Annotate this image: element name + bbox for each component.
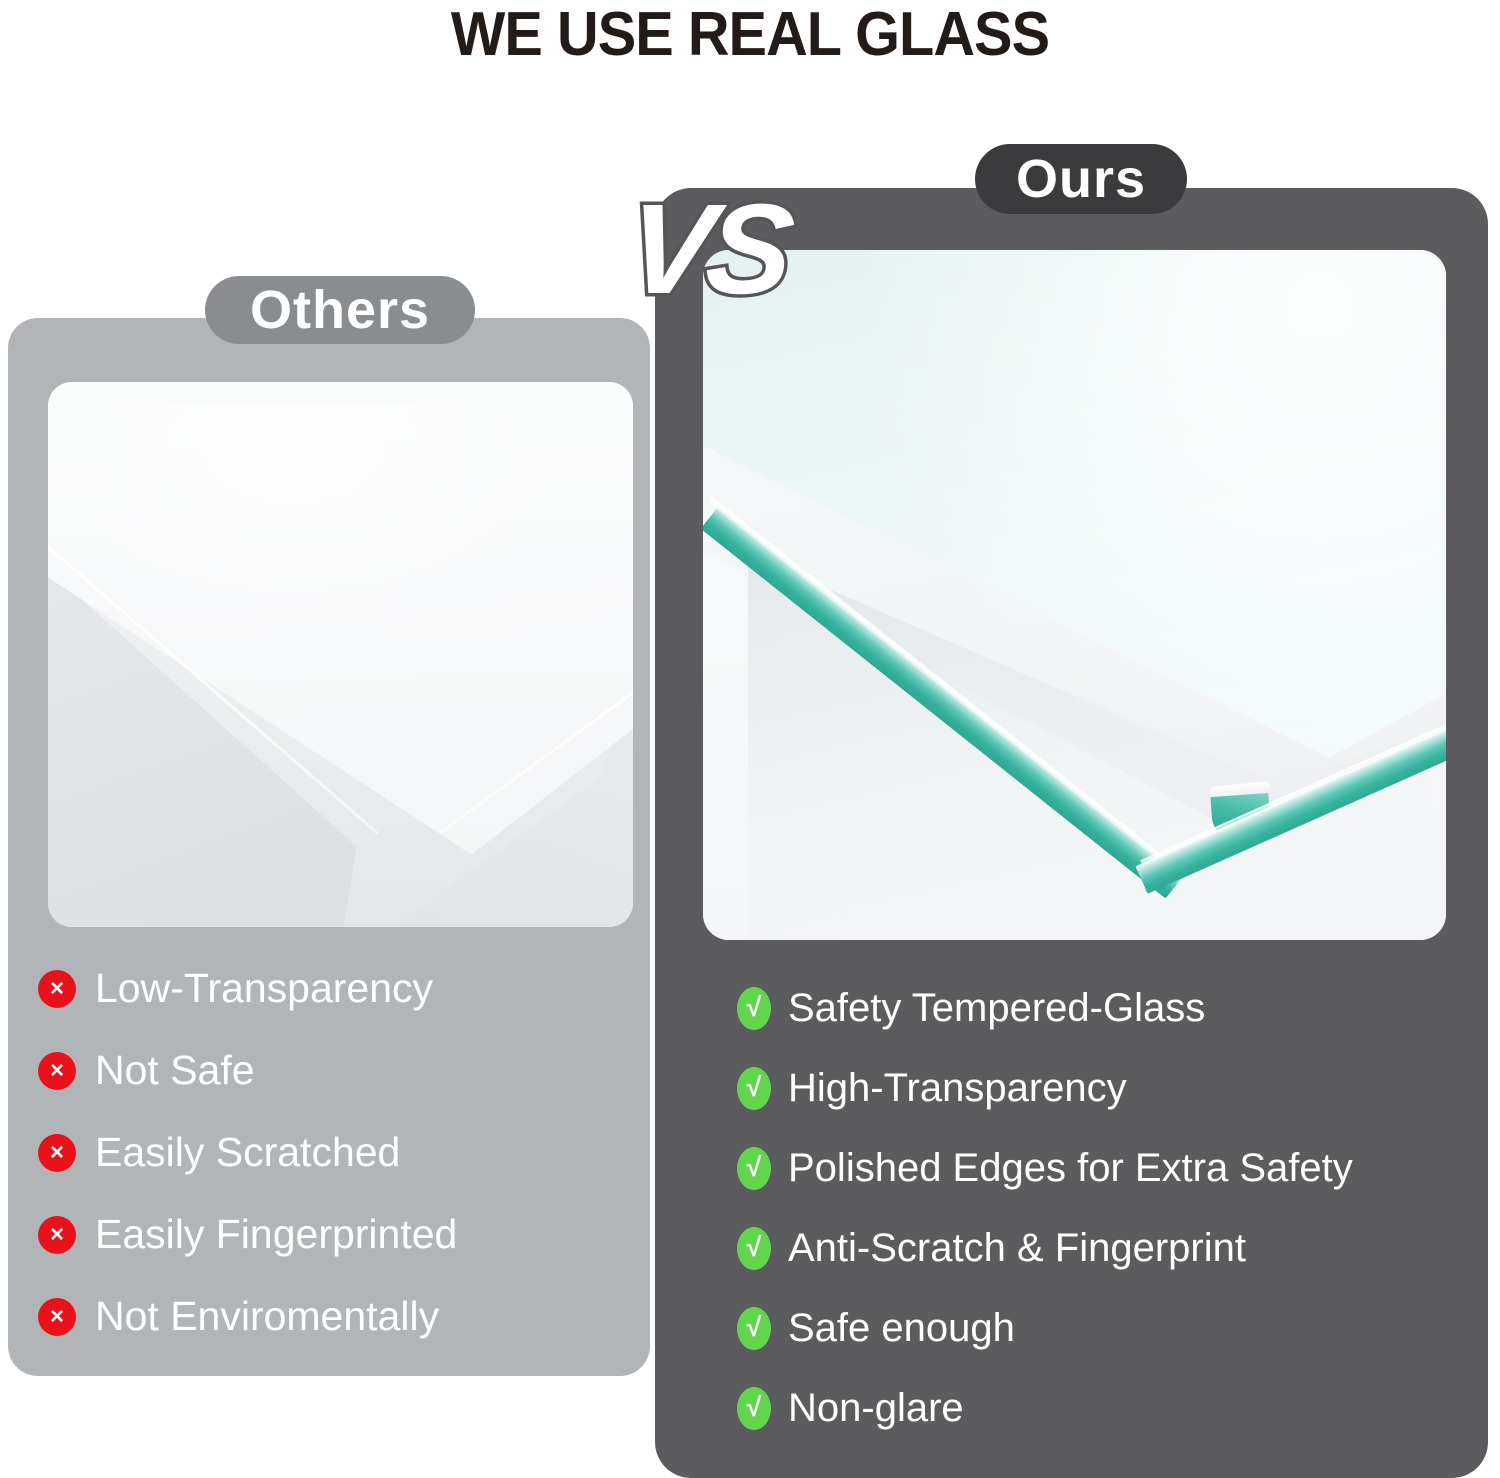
- ours-badge: Ours: [975, 144, 1187, 214]
- list-item: × Easily Scratched: [38, 1112, 638, 1194]
- list-item-label: Safety Tempered-Glass: [788, 987, 1205, 1029]
- list-item-label: High-Transparency: [788, 1067, 1127, 1109]
- acrylic-sheen: [107, 404, 575, 622]
- cross-icon: ×: [38, 1052, 76, 1090]
- list-item-label: Anti-Scratch & Fingerprint: [788, 1227, 1246, 1269]
- list-item-label: Polished Edges for Extra Safety: [788, 1147, 1353, 1189]
- list-item-label: Not Enviromentally: [95, 1295, 439, 1338]
- list-item: × Low-Transparency: [38, 948, 638, 1030]
- list-item-label: Not Safe: [95, 1049, 255, 1092]
- check-icon: √: [737, 1307, 771, 1350]
- others-badge: Others: [205, 276, 475, 344]
- list-item-label: Low-Transparency: [95, 967, 433, 1010]
- check-icon: √: [737, 987, 771, 1030]
- cross-icon: ×: [38, 970, 76, 1008]
- others-badge-label: Others: [250, 279, 430, 341]
- check-icon: √: [737, 1387, 771, 1430]
- page-title: WE USE REAL GLASS: [53, 2, 1448, 69]
- ours-badge-label: Ours: [1016, 148, 1146, 210]
- list-item: √ Anti-Scratch & Fingerprint: [737, 1208, 1467, 1288]
- list-item-label: Easily Fingerprinted: [95, 1213, 457, 1256]
- check-icon: √: [737, 1147, 771, 1190]
- list-item-label: Safe enough: [788, 1307, 1015, 1349]
- list-item: √ Non-glare: [737, 1368, 1467, 1448]
- check-icon: √: [737, 1067, 771, 1110]
- list-item: √ Safe enough: [737, 1288, 1467, 1368]
- list-item: √ Polished Edges for Extra Safety: [737, 1128, 1467, 1208]
- list-item: √ High-Transparency: [737, 1048, 1467, 1128]
- check-icon: √: [737, 1227, 771, 1270]
- ours-product-image: [703, 250, 1446, 940]
- list-item-label: Non-glare: [788, 1387, 964, 1429]
- versus-label: VS: [621, 186, 793, 314]
- cross-icon: ×: [38, 1216, 76, 1254]
- list-item: √ Safety Tempered-Glass: [737, 968, 1467, 1048]
- cross-icon: ×: [38, 1298, 76, 1336]
- others-feature-list: × Low-Transparency × Not Safe × Easily S…: [38, 948, 638, 1358]
- list-item-label: Easily Scratched: [95, 1131, 400, 1174]
- others-product-image: [48, 382, 633, 927]
- list-item: × Not Enviromentally: [38, 1276, 638, 1358]
- list-item: × Easily Fingerprinted: [38, 1194, 638, 1276]
- ours-feature-list: √ Safety Tempered-Glass √ High-Transpare…: [737, 968, 1467, 1448]
- cross-icon: ×: [38, 1134, 76, 1172]
- list-item: × Not Safe: [38, 1030, 638, 1112]
